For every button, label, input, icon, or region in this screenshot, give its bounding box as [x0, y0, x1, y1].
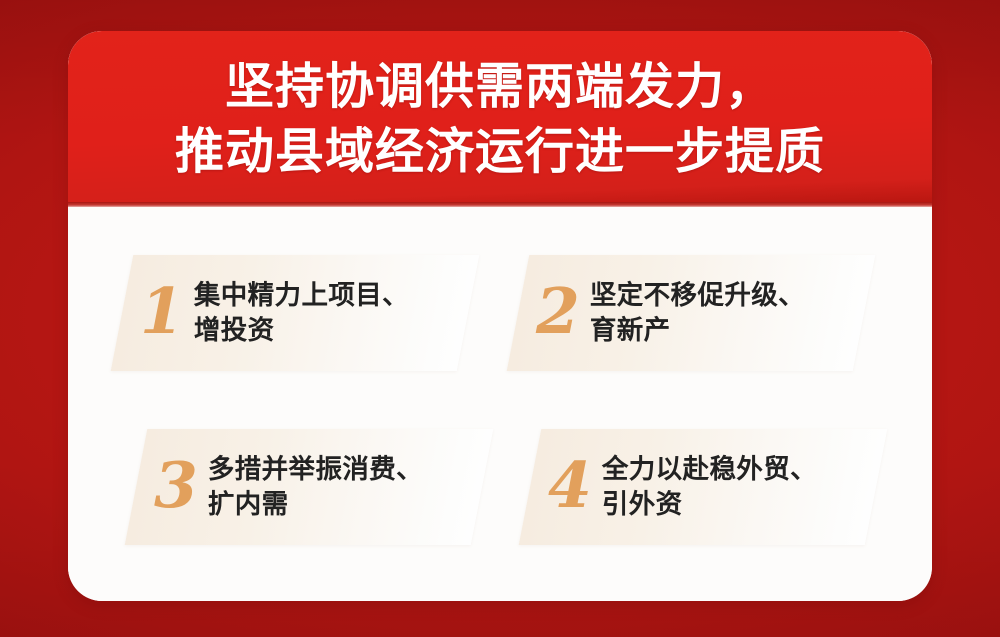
list-item-2[interactable]: 2 坚定不移促升级、 育新产	[518, 255, 878, 371]
item-content: 1 集中精力上项目、 增投资	[122, 255, 482, 371]
items-grid: 1 集中精力上项目、 增投资 2 坚定不移促升级、 育新产	[98, 221, 904, 581]
items-row-top: 1 集中精力上项目、 增投资 2 坚定不移促升级、 育新产	[98, 255, 904, 371]
item-number-badge: 1	[140, 280, 182, 343]
item-content: 2 坚定不移促升级、 育新产	[518, 255, 878, 371]
item-content: 4 全力以赴稳外贸、 引外资	[530, 429, 890, 545]
item-label: 全力以赴稳外贸、 引外资	[602, 452, 817, 522]
item-label: 坚定不移促升级、 育新产	[590, 278, 805, 348]
item-number-badge: 2	[536, 280, 578, 343]
items-body: 1 集中精力上项目、 增投资 2 坚定不移促升级、 育新产	[68, 207, 932, 601]
item-label: 多措并举振消费、 扩内需	[208, 452, 423, 522]
page-title-line-2: 推动县域经济运行进一步提质	[175, 121, 825, 184]
item-label: 集中精力上项目、 增投资	[194, 278, 409, 348]
list-item-1[interactable]: 1 集中精力上项目、 增投资	[122, 255, 482, 371]
list-item-3[interactable]: 3 多措并举振消费、 扩内需	[136, 429, 496, 545]
content-frame: 坚持协调供需两端发力， 推动县域经济运行进一步提质 1 集中精力上项目、 增投资	[68, 31, 932, 601]
header-banner: 坚持协调供需两端发力， 推动县域经济运行进一步提质	[68, 31, 932, 207]
item-content: 3 多措并举振消费、 扩内需	[136, 429, 496, 545]
poster-background: 坚持协调供需两端发力， 推动县域经济运行进一步提质 1 集中精力上项目、 增投资	[0, 0, 1000, 637]
item-number-badge: 3	[154, 454, 196, 517]
page-title-line-1: 坚持协调供需两端发力，	[225, 56, 775, 119]
items-row-bottom: 3 多措并举振消费、 扩内需 4 全力以赴稳外贸、 引外资	[98, 429, 904, 545]
item-number-badge: 4	[548, 454, 590, 517]
list-item-4[interactable]: 4 全力以赴稳外贸、 引外资	[530, 429, 890, 545]
